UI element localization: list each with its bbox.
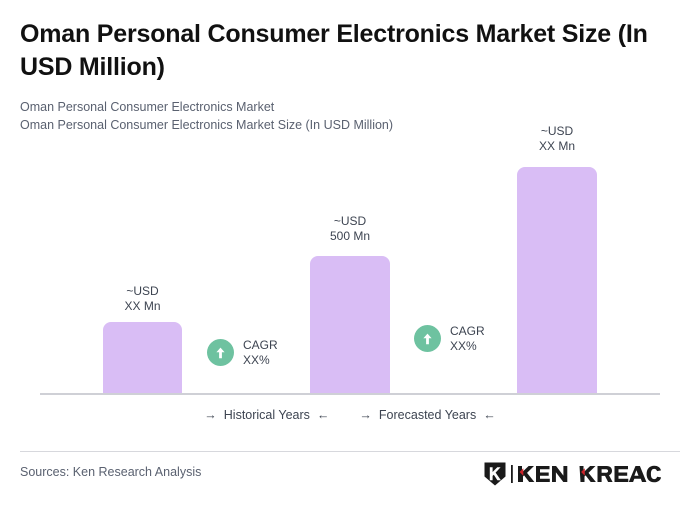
arrow-left-icon: ←	[483, 409, 496, 422]
bar-forecast	[517, 167, 597, 393]
ken-research-wordmark	[511, 464, 663, 484]
x-axis-line	[40, 393, 660, 395]
cagr-label-historical: CAGR XX%	[243, 338, 278, 367]
arrow-up-icon	[414, 325, 441, 352]
cagr-label-forecast: CAGR XX%	[450, 324, 485, 353]
bar-label-historical: ~USD XX Mn	[103, 284, 182, 313]
cagr-badge-historical: CAGR XX%	[207, 338, 278, 367]
arrow-up-icon	[207, 339, 234, 366]
period-label-historical: Historical Years	[224, 408, 310, 422]
bar-mid	[310, 256, 390, 393]
bars-container	[0, 0, 700, 393]
ken-research-shield-icon	[483, 461, 507, 487]
bar-historical	[103, 322, 182, 393]
footer-divider	[20, 451, 680, 452]
chart-canvas: Oman Personal Consumer Electronics Marke…	[0, 0, 700, 520]
arrow-right-icon: →	[204, 409, 217, 422]
ken-research-logo	[483, 461, 663, 487]
sources-text: Sources: Ken Research Analysis	[20, 465, 201, 479]
arrow-right-icon: →	[359, 409, 372, 422]
cagr-badge-forecast: CAGR XX%	[414, 324, 485, 353]
period-forecast: → Forecasted Years ←	[359, 408, 495, 422]
plot-area: ~USD XX Mn ~USD 500 Mn ~USD XX Mn CAGR X…	[0, 0, 700, 400]
period-label-forecast: Forecasted Years	[379, 408, 476, 422]
bar-label-mid: ~USD 500 Mn	[310, 214, 390, 243]
period-legend: → Historical Years ← → Forecasted Years …	[0, 408, 700, 422]
period-historical: → Historical Years ←	[204, 408, 329, 422]
bar-label-forecast: ~USD XX Mn	[517, 124, 597, 153]
arrow-left-icon: ←	[317, 409, 330, 422]
